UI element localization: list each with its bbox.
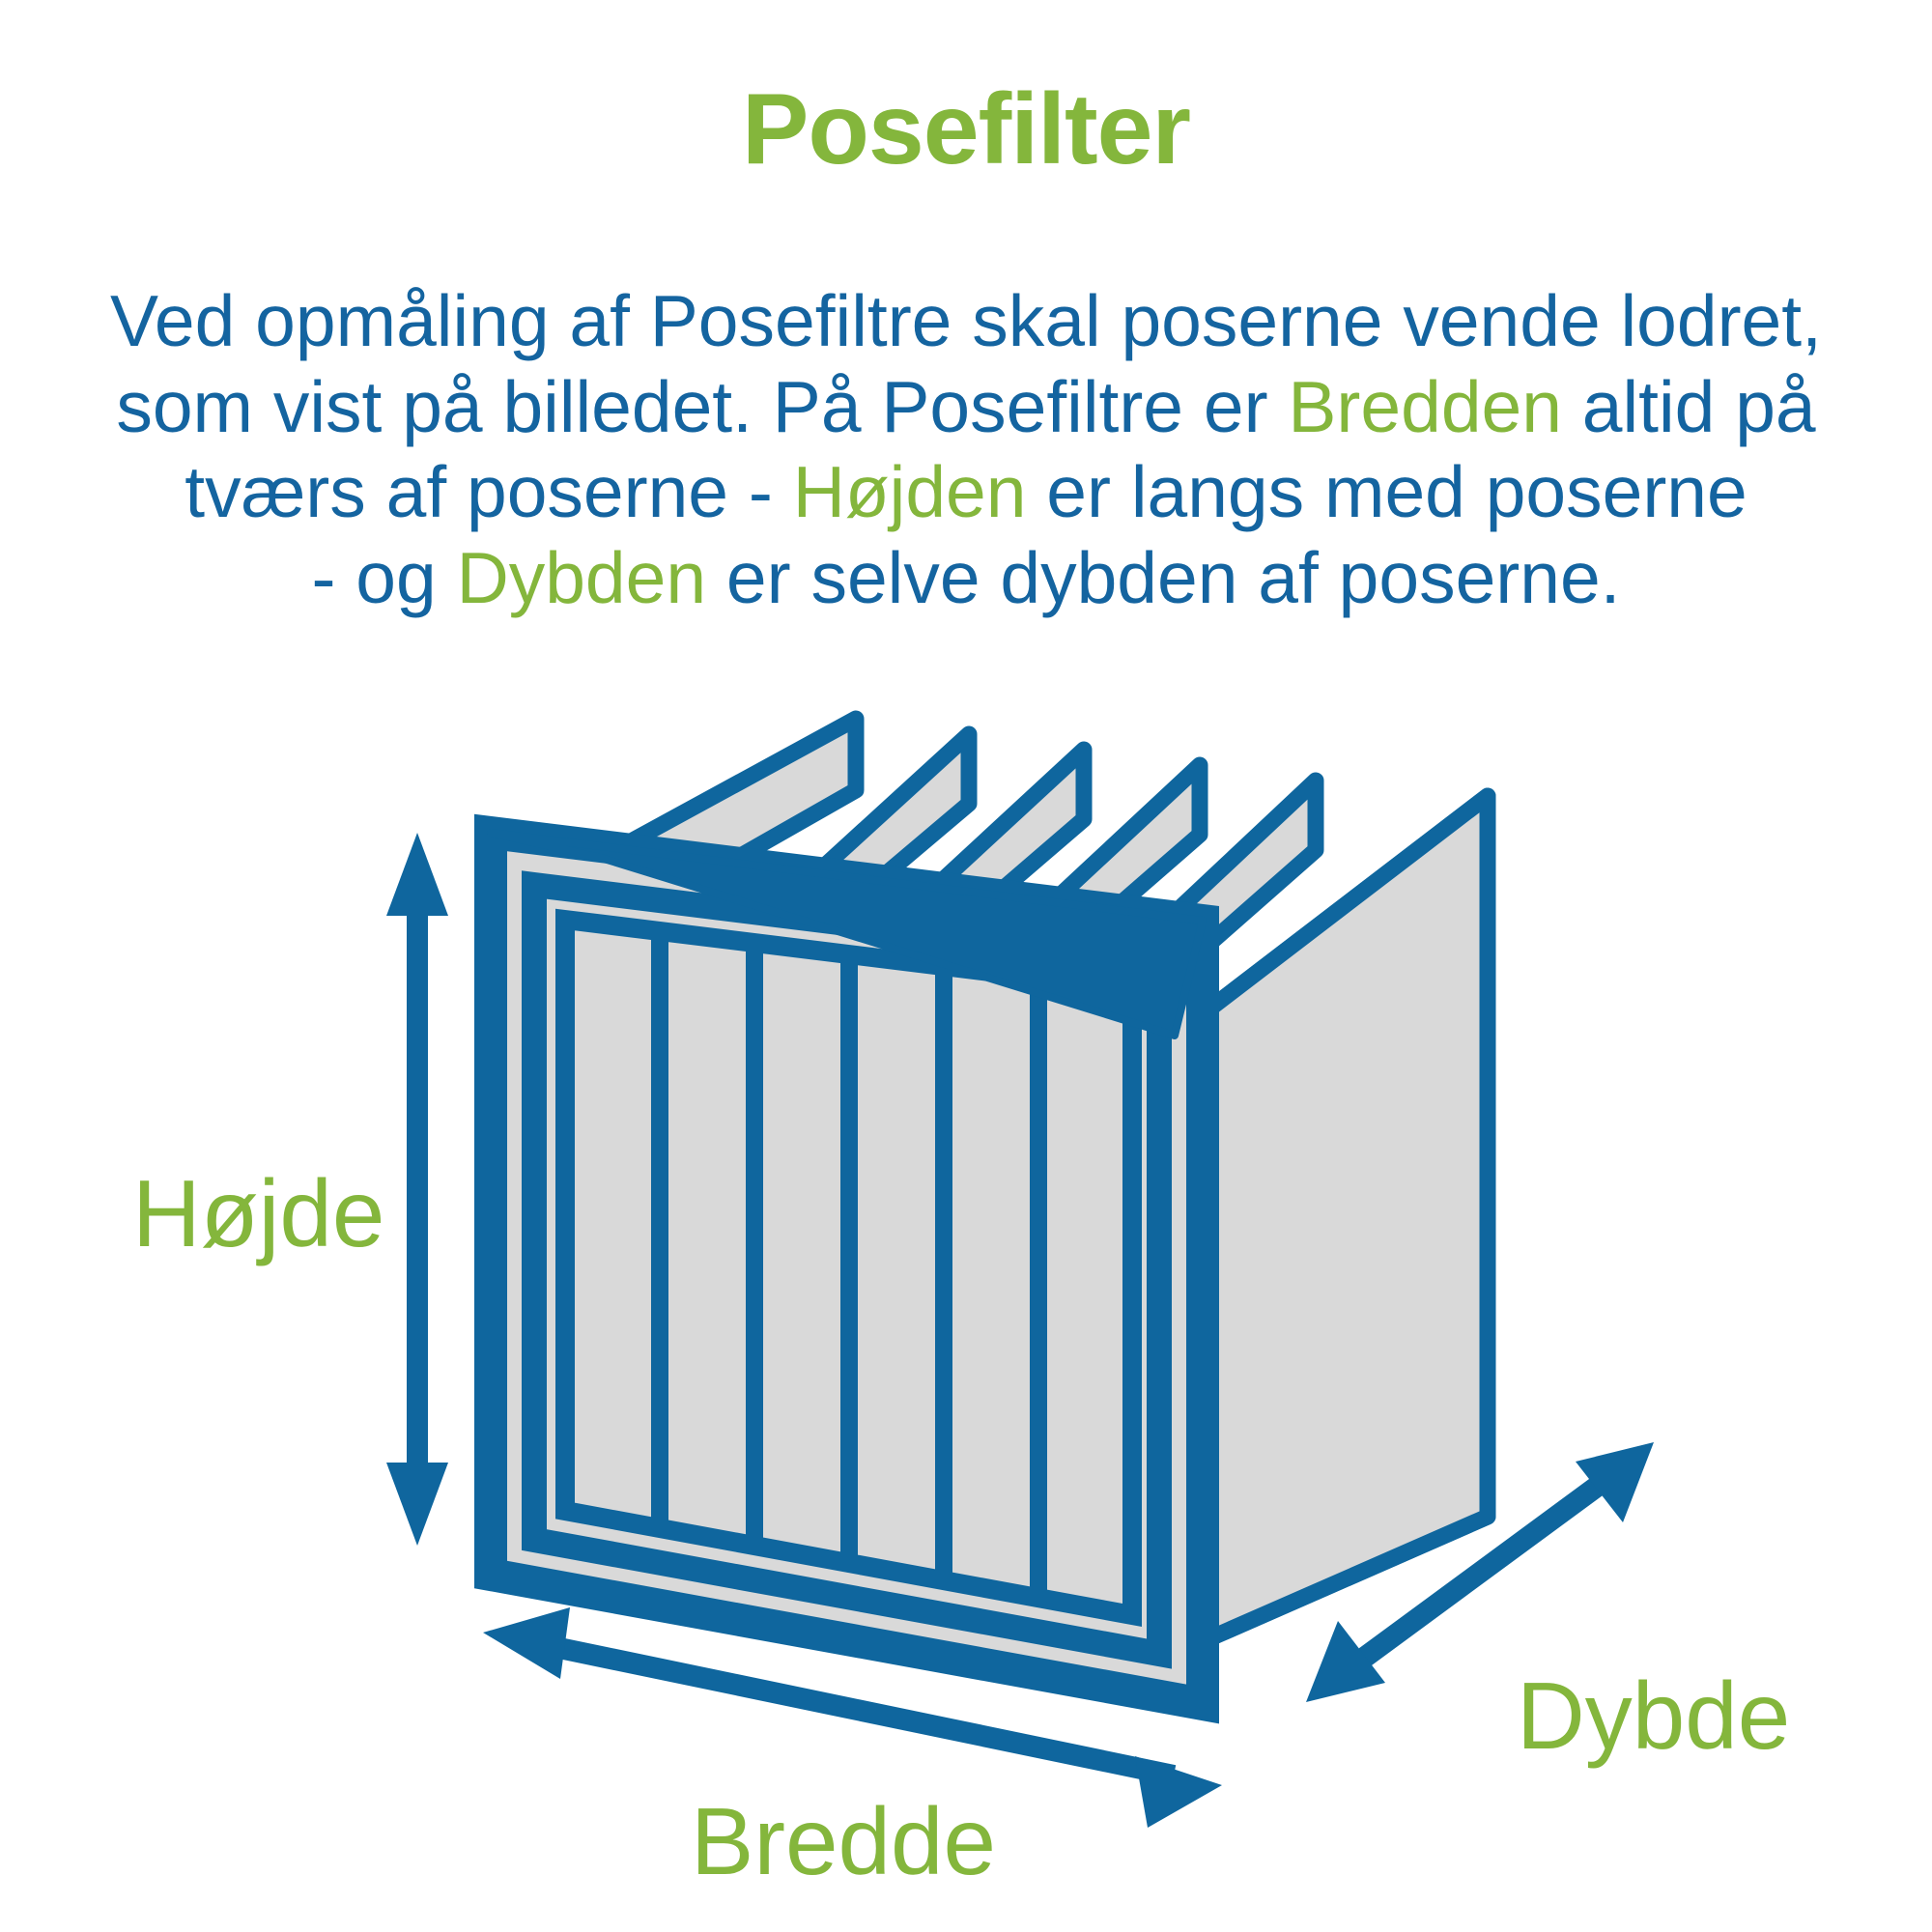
poster-root: Posefilter Ved opmåling af Posefiltre sk… bbox=[0, 0, 1932, 1932]
width-arrow-head-left bbox=[483, 1607, 570, 1679]
filter-diagram: Højde Bredde Dybde bbox=[0, 0, 1932, 1932]
width-label: Bredde bbox=[691, 1788, 996, 1894]
height-arrow-head-up bbox=[386, 833, 448, 916]
depth-label: Dybde bbox=[1517, 1662, 1790, 1769]
width-arrow-head-right bbox=[1135, 1756, 1222, 1828]
height-arrow bbox=[386, 833, 448, 1546]
height-label: Højde bbox=[132, 1160, 384, 1266]
height-arrow-head-down bbox=[386, 1463, 448, 1546]
